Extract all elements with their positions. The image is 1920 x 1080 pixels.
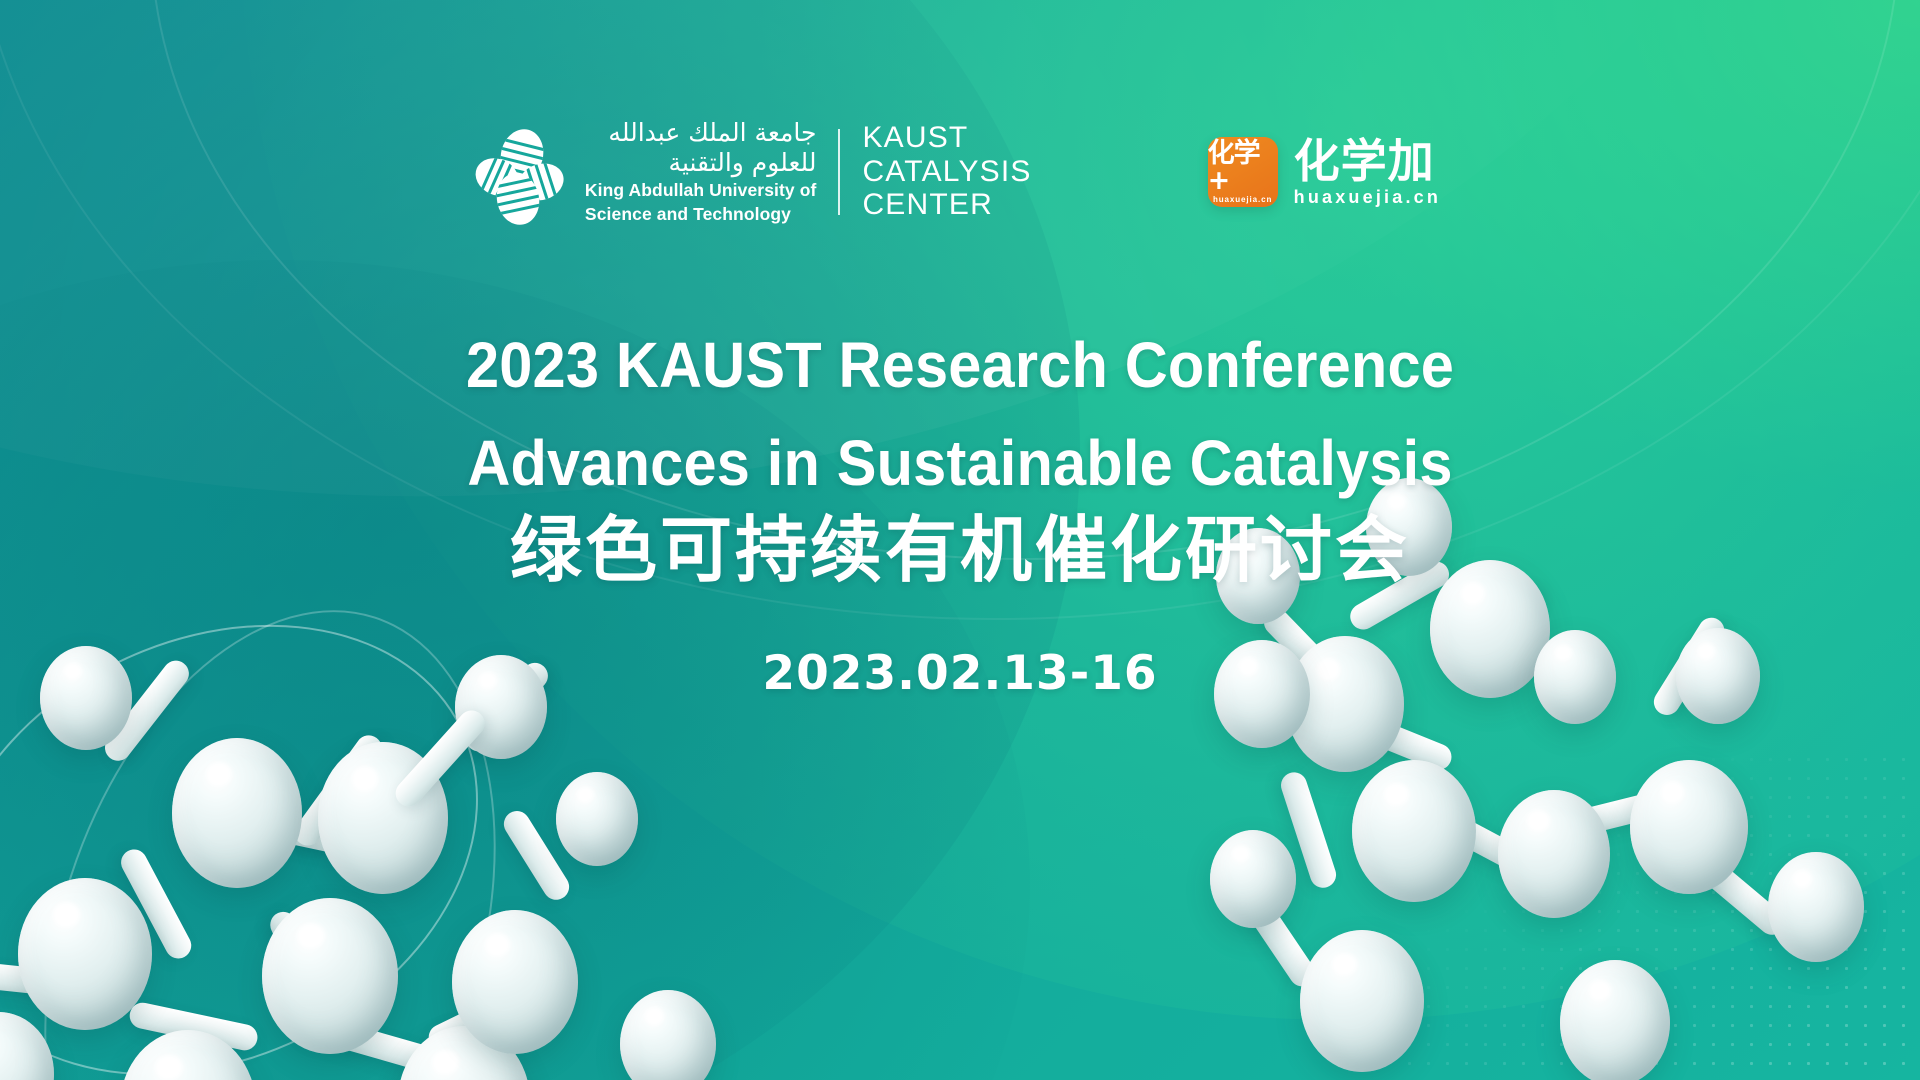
kcc-line-2: CATALYSIS <box>862 155 1031 189</box>
kcc-line-1: KAUST <box>862 121 1031 155</box>
kaust-flower-mark-icon <box>479 129 563 215</box>
huaxuejia-logo-lockup: 化学+ huaxuejia.cn 化学加 huaxuejia.cn <box>1208 137 1441 207</box>
molecule-atom <box>1210 830 1296 928</box>
molecule-bond <box>1404 792 1531 876</box>
conference-theme-chinese: 绿色可持续有机催化研讨会 <box>0 511 1920 590</box>
conference-banner: جامعة الملك عبدالله للعلوم والتقنية King… <box>0 0 1920 1080</box>
kaust-logo-lockup: جامعة الملك عبدالله للعلوم والتقنية King… <box>479 118 1032 225</box>
molecule-atom <box>556 772 638 866</box>
molecule-bond <box>227 805 360 857</box>
molecule-bond <box>127 1000 260 1052</box>
molecule-atom <box>1630 760 1748 894</box>
kaust-english-line-1: King Abdullah University of <box>585 180 817 201</box>
kaust-catalysis-center-wordmark: KAUST CATALYSIS CENTER <box>862 121 1031 222</box>
molecule-atom <box>172 738 302 888</box>
kaust-wordmark: جامعة الملك عبدالله للعلوم والتقنية King… <box>585 118 817 225</box>
conference-date: 2023.02.13-16 <box>0 646 1920 701</box>
huaxuejia-wordmark: 化学加 huaxuejia.cn <box>1294 138 1441 206</box>
molecule-atom <box>620 990 716 1080</box>
kaust-arabic-line-1: جامعة الملك عبدالله <box>585 118 817 148</box>
molecule-atom <box>120 1030 256 1080</box>
huaxuejia-badge-text: 化学+ <box>1208 140 1278 194</box>
logo-row: جامعة الملك عبدالله للعلوم والتقنية King… <box>0 118 1920 225</box>
molecule-atom <box>1498 790 1610 918</box>
molecule-bond <box>499 806 574 905</box>
huaxuejia-badge-icon: 化学+ huaxuejia.cn <box>1208 137 1278 207</box>
molecule-bond <box>289 730 386 850</box>
title-block: 2023 KAUST Research Conference Advances … <box>0 328 1920 701</box>
molecule-atom <box>1300 930 1424 1072</box>
logo-divider <box>838 129 840 215</box>
molecule-atom <box>1768 852 1864 962</box>
kcc-line-3: CENTER <box>862 188 1031 222</box>
molecule-atom <box>0 1012 54 1080</box>
kaust-arabic-line-2: للعلوم والتقنية <box>585 148 817 178</box>
huaxuejia-url: huaxuejia.cn <box>1294 188 1441 206</box>
molecule-atom <box>1560 960 1670 1080</box>
conference-theme-english: Advances in Sustainable Catalysis <box>67 426 1853 502</box>
molecule-bond <box>1325 701 1455 774</box>
molecule-bond <box>1278 769 1340 891</box>
molecule-atom <box>1352 760 1476 902</box>
kaust-english-line-2: Science and Technology <box>585 204 817 225</box>
molecule-bond <box>1537 791 1660 845</box>
molecule-bond <box>1682 843 1791 940</box>
molecule-atom <box>18 878 152 1030</box>
molecule-bond <box>296 1011 438 1075</box>
dot-pattern-bottom-right <box>1400 750 1920 1080</box>
molecule-bond <box>1237 886 1320 992</box>
molecule-atom <box>398 1026 530 1080</box>
molecule-bond <box>0 960 81 998</box>
molecule-atom <box>318 742 448 894</box>
molecule-bond <box>390 705 490 812</box>
huaxuejia-wordmark-cn: 化学加 <box>1294 138 1441 184</box>
molecule-bond <box>424 974 552 1054</box>
conference-title: 2023 KAUST Research Conference <box>67 328 1853 404</box>
molecule-bond <box>266 908 343 1037</box>
molecule-atom <box>452 910 578 1054</box>
huaxuejia-badge-url: huaxuejia.cn <box>1213 196 1272 204</box>
molecule-bond <box>117 845 196 963</box>
molecule-atom <box>262 898 398 1054</box>
